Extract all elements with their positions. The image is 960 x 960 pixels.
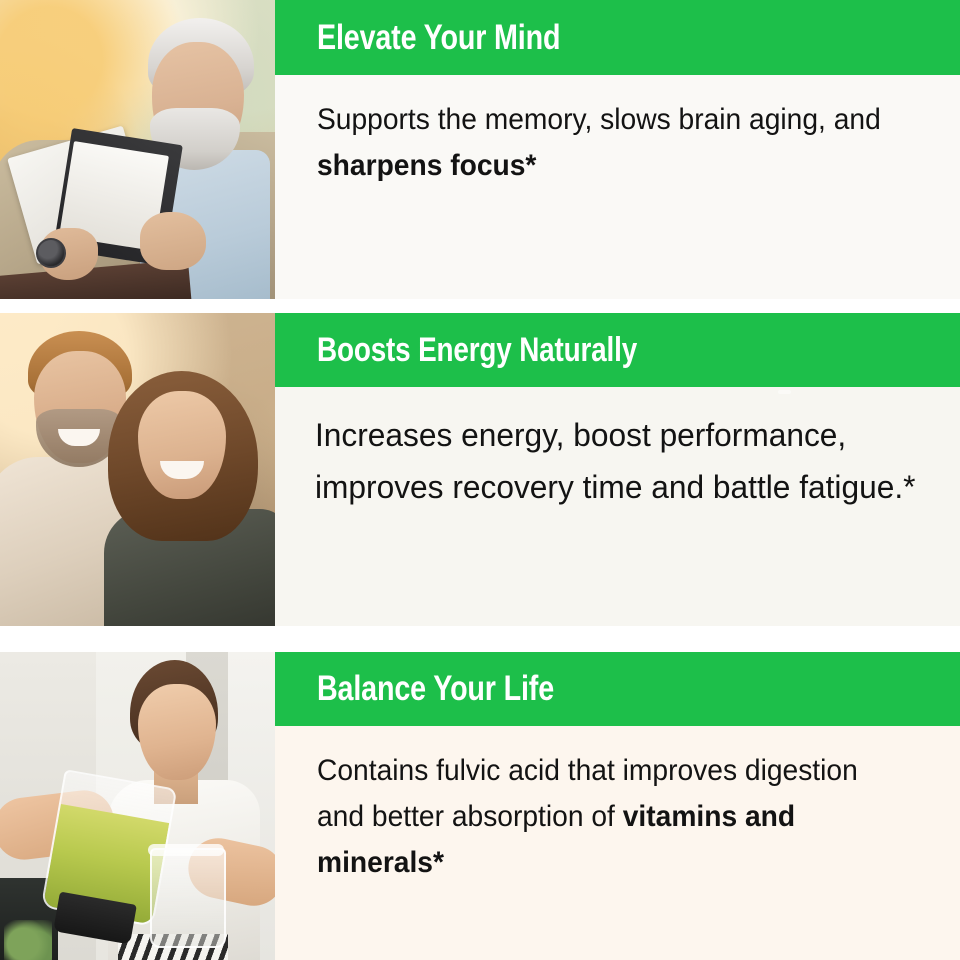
- photo-wristwatch: [36, 238, 66, 268]
- panel-body: Supports the memory, slows brain aging, …: [275, 75, 960, 299]
- photo-glass-jar: [150, 848, 226, 948]
- panel-title: Balance Your Life: [317, 669, 554, 709]
- panel-content: Balance Your Life Contains fulvic acid t…: [275, 652, 960, 960]
- panel-header-bar: Boosts Energy Naturally: [275, 313, 960, 387]
- panel-body: Contains fulvic acid that improves diges…: [275, 726, 960, 960]
- panel-body-text: Supports the memory, slows brain aging, …: [317, 103, 881, 136]
- photo-face: [138, 684, 216, 780]
- header-dash-artifact: [778, 390, 791, 394]
- panel-body-text: Increases energy, boost performance, imp…: [315, 409, 924, 513]
- panel-title: Elevate Your Mind: [317, 18, 560, 58]
- panel-header-bar: Elevate Your Mind: [275, 0, 960, 75]
- panel-body-emphasis: sharpens focus*: [317, 149, 536, 182]
- benefit-panel-elevate-your-mind: Elevate Your Mind Supports the memory, s…: [0, 0, 960, 299]
- benefit-panel-boosts-energy-naturally: Boosts Energy Naturally Increases energy…: [0, 313, 960, 626]
- panel-photo-smiling-couple: [0, 313, 275, 626]
- panel-content: Elevate Your Mind Supports the memory, s…: [275, 0, 960, 299]
- panel-body: Increases energy, boost performance, imp…: [275, 387, 960, 626]
- panel-title: Boosts Energy Naturally: [317, 331, 637, 370]
- panel-photo-elderly-man-reading: [0, 0, 275, 299]
- panel-content: Boosts Energy Naturally Increases energy…: [275, 313, 960, 626]
- photo-woman-face: [138, 391, 226, 499]
- panel-header-bar: Balance Your Life: [275, 652, 960, 726]
- benefits-infographic: Elevate Your Mind Supports the memory, s…: [0, 0, 960, 960]
- benefit-panel-balance-your-life: Balance Your Life Contains fulvic acid t…: [0, 652, 960, 960]
- panel-photo-woman-smoothie: [0, 652, 275, 960]
- photo-hand-right: [140, 212, 206, 270]
- photo-plant: [4, 920, 52, 960]
